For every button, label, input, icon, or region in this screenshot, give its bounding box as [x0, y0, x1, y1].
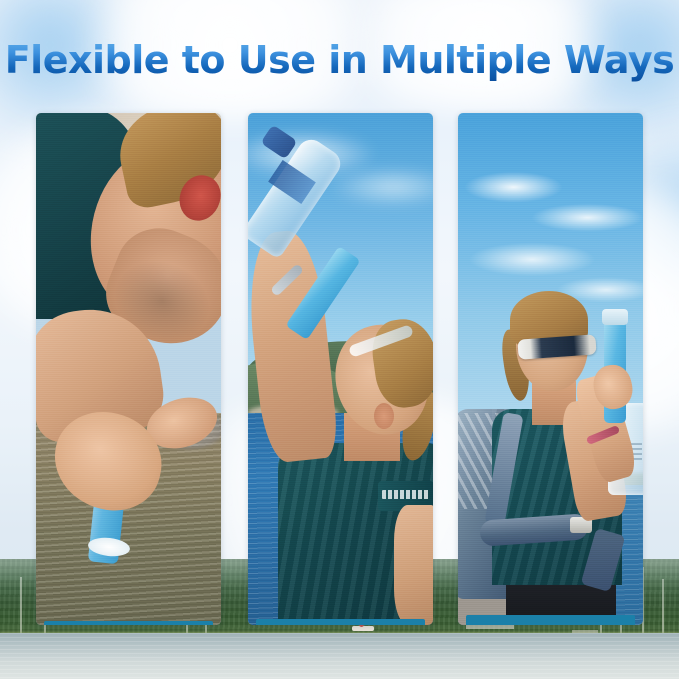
marketing-image: Flexible to Use in Multiple Ways: [0, 0, 679, 679]
photo-drink-from-bottle: [248, 113, 433, 625]
person-ear: [374, 403, 394, 429]
cloud: [328, 167, 433, 207]
panel-caption: Connect with a water bag: [466, 615, 635, 625]
panel-connect-water-bottle[interactable]: Connect with a water bottle: [248, 113, 433, 625]
panel-caption: Connect with a water bottle: [256, 619, 425, 625]
panel-caption: Drink nature water source directly: [44, 621, 213, 625]
panel-connect-water-bag[interactable]: Connect with a water bag: [458, 113, 643, 625]
filter-straw-cap: [602, 309, 628, 325]
sleeve-logo: [382, 490, 430, 499]
person-arm: [394, 505, 433, 625]
panel-group: Drink nature water source directly: [0, 0, 679, 679]
panel-drink-nature-water-source[interactable]: Drink nature water source directly: [36, 113, 221, 625]
photo-hiker-with-water-bag: [458, 113, 643, 625]
photo-drink-from-stream: [36, 113, 221, 625]
